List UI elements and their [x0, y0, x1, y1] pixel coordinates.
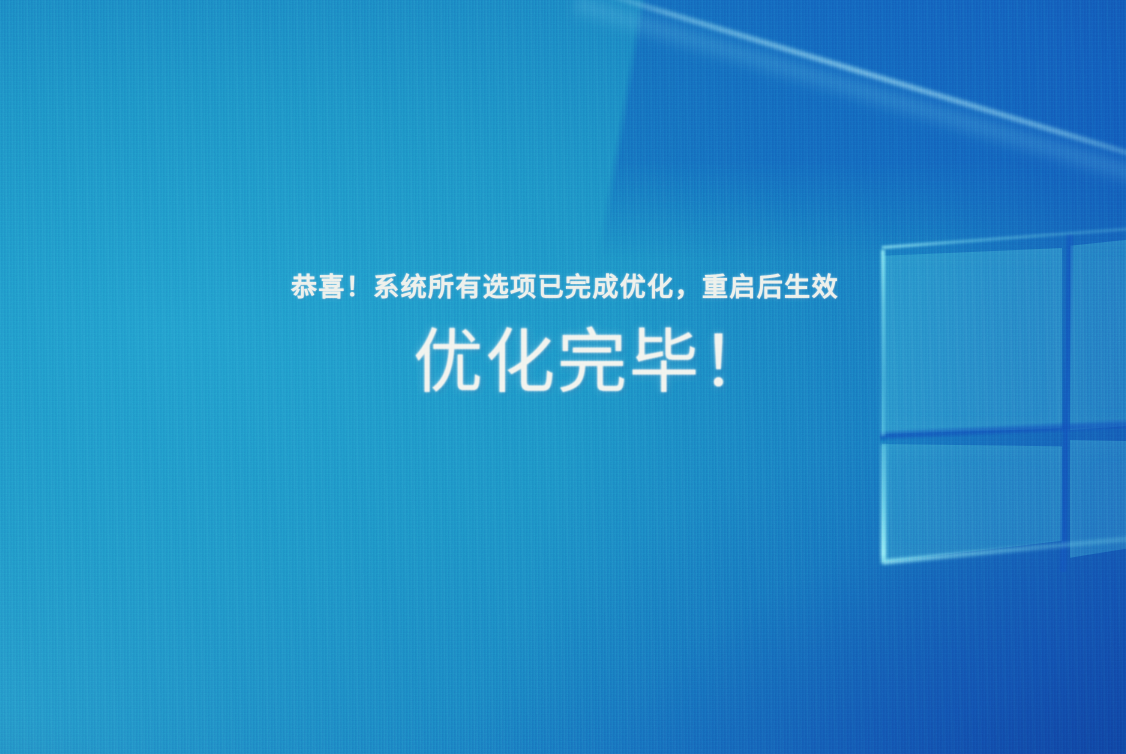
- photo-grain: [0, 0, 1126, 754]
- desktop-screenshot: 恭喜！系统所有选项已完成优化，重启后生效 优化完毕！: [0, 0, 1126, 754]
